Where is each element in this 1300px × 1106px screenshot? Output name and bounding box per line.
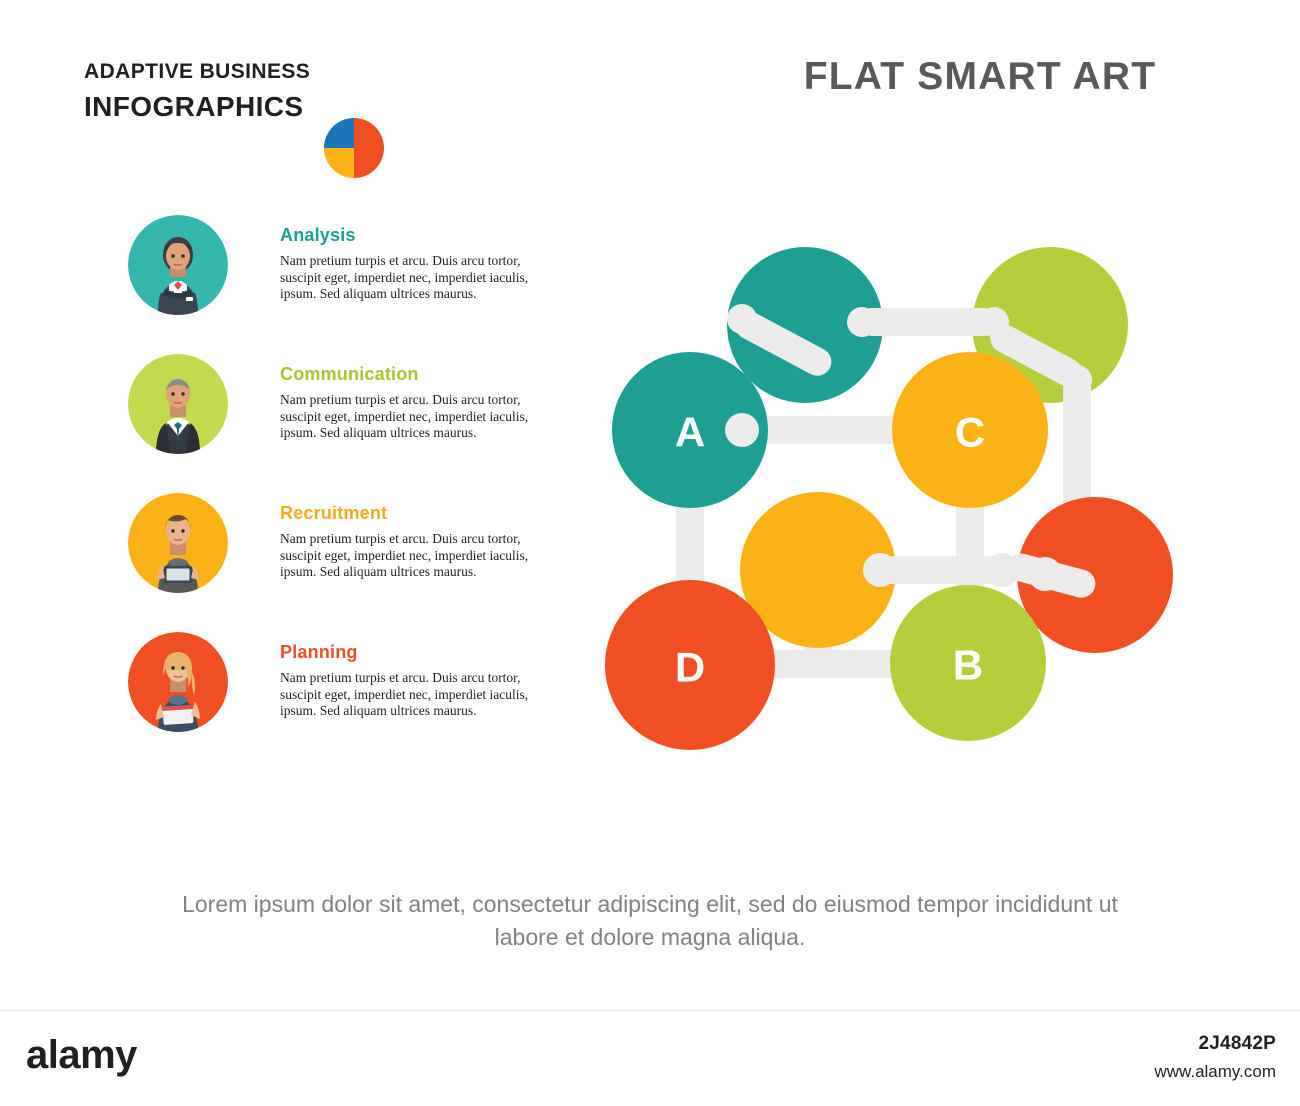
slide-canvas: ADAPTIVE BUSINESS INFOGRAPHICS FLAT SMAR… — [0, 0, 1300, 1010]
list-item: Communication Nam pretium turpis et arcu… — [128, 354, 548, 493]
footer-meta: 2J4842P www.alamy.com — [1154, 1033, 1276, 1082]
image-id: 2J4842P — [1154, 1033, 1276, 1055]
node-label-C: C — [955, 409, 985, 456]
brand-logo: ADAPTIVE BUSINESS INFOGRAPHICS — [84, 60, 404, 132]
list-item-text: Nam pretium turpis et arcu. Duis arcu to… — [280, 531, 542, 581]
list-item-text: Nam pretium turpis et arcu. Duis arcu to… — [280, 253, 542, 303]
list-item-text: Nam pretium turpis et arcu. Duis arcu to… — [280, 392, 542, 442]
site-url: www.alamy.com — [1154, 1062, 1276, 1082]
list-item-body: Recruitment Nam pretium turpis et arcu. … — [280, 503, 542, 581]
list-item-title: Recruitment — [280, 503, 542, 524]
stock-footer-bar: alamy 2J4842P www.alamy.com — [0, 1010, 1300, 1106]
businesswoman-tablet-avatar — [128, 493, 228, 593]
pie-chart-logo-icon — [322, 116, 386, 180]
list-item-title: Analysis — [280, 225, 542, 246]
node-label-D: D — [675, 644, 705, 691]
list-item-body: Analysis Nam pretium turpis et arcu. Dui… — [280, 225, 542, 303]
list-item-title: Communication — [280, 364, 542, 385]
slide-caption: Lorem ipsum dolor sit amet, consectetur … — [170, 888, 1130, 954]
node-label-A: A — [675, 409, 705, 456]
feature-list: Analysis Nam pretium turpis et arcu. Dui… — [128, 215, 548, 771]
node-label-B: B — [953, 642, 983, 689]
brand-line-2: INFOGRAPHICS — [84, 91, 303, 123]
network-diagram: A C D B — [590, 220, 1210, 760]
list-item-body: Communication Nam pretium turpis et arcu… — [280, 364, 542, 442]
list-item-title: Planning — [280, 642, 542, 663]
businesswoman-notebook-avatar — [128, 632, 228, 732]
page-title: FLAT SMART ART — [700, 55, 1260, 99]
list-item-text: Nam pretium turpis et arcu. Duis arcu to… — [280, 670, 542, 720]
businesswoman-arms-crossed-avatar — [128, 215, 228, 315]
list-item: Recruitment Nam pretium turpis et arcu. … — [128, 493, 548, 632]
list-item-body: Planning Nam pretium turpis et arcu. Dui… — [280, 642, 542, 720]
alamy-logo: alamy — [26, 1033, 137, 1078]
list-item: Analysis Nam pretium turpis et arcu. Dui… — [128, 215, 548, 354]
brand-line-1: ADAPTIVE BUSINESS — [84, 60, 310, 84]
businessman-suit-avatar — [128, 354, 228, 454]
list-item: Planning Nam pretium turpis et arcu. Dui… — [128, 632, 548, 771]
